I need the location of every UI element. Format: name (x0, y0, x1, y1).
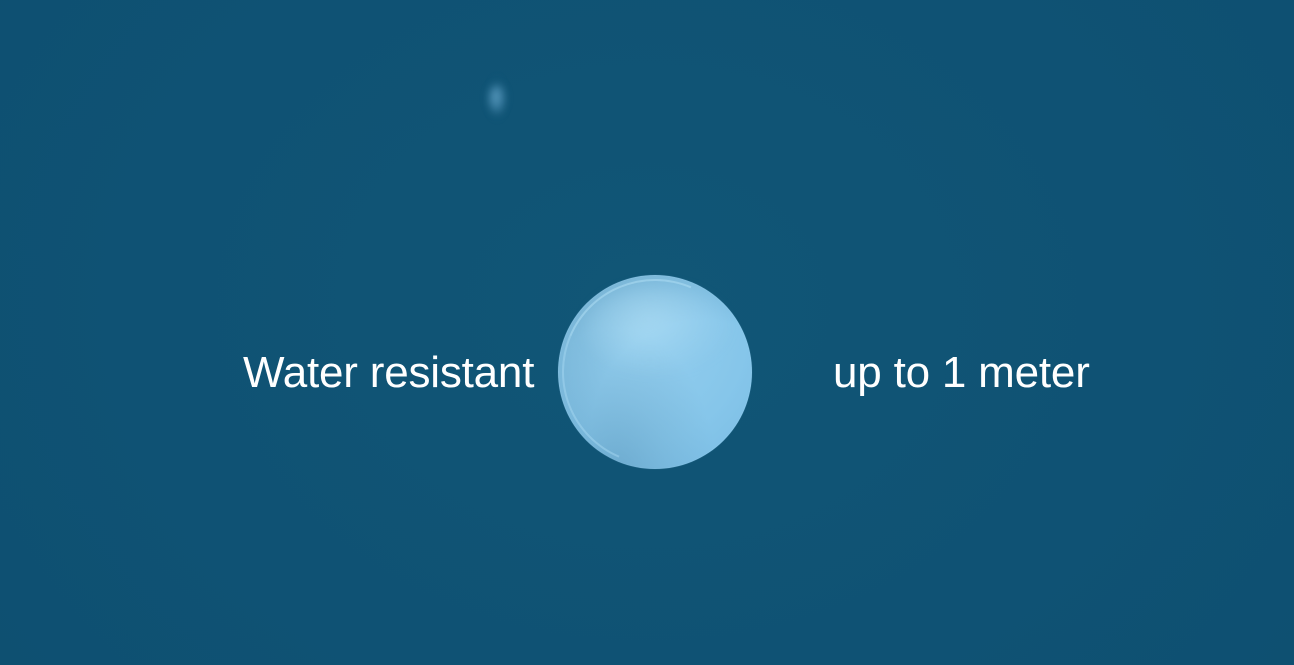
water-droplet-circle-icon (558, 275, 752, 469)
caption-right: up to 1 meter (833, 345, 1090, 401)
water-resistance-slide: Water resistant up to 1 meter (0, 0, 1294, 665)
droplet-sheen-highlight (585, 287, 729, 372)
droplet-shading (558, 275, 752, 469)
caption-left: Water resistant (243, 345, 534, 401)
